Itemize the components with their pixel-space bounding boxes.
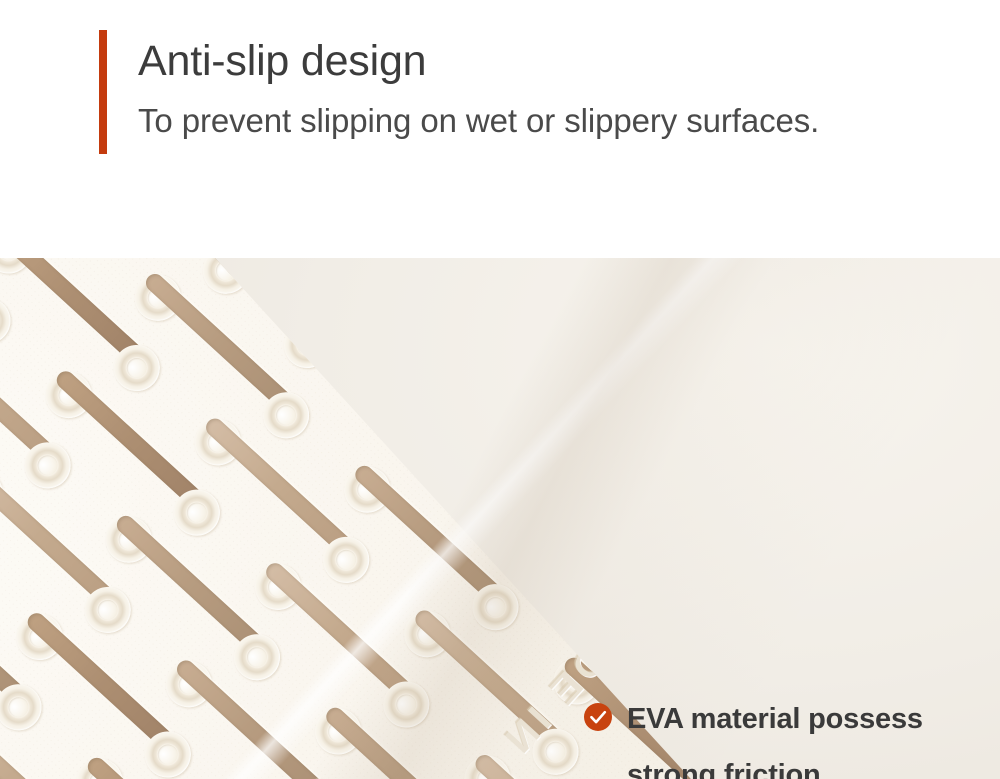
list-item-continuation: strong friction xyxy=(583,750,983,779)
header-section: Anti-slip design To prevent slipping on … xyxy=(0,0,1000,258)
list-item-label: EVA material possess xyxy=(627,694,923,744)
list-item-label-wrap: strong friction xyxy=(627,750,821,779)
product-photo: MADE IN EVA material possess stro xyxy=(0,258,1000,779)
product-feature-banner: Anti-slip design To prevent slipping on … xyxy=(0,0,1000,779)
page-subtitle: To prevent slipping on wet or slippery s… xyxy=(138,98,819,144)
check-circle-icon xyxy=(583,702,613,732)
mat-suction-cup xyxy=(0,288,20,353)
accent-bar xyxy=(99,30,107,154)
list-item: EVA material possess xyxy=(583,694,983,744)
feature-list: EVA material possess strong friction Non… xyxy=(583,694,983,779)
page-title: Anti-slip design xyxy=(138,31,426,91)
